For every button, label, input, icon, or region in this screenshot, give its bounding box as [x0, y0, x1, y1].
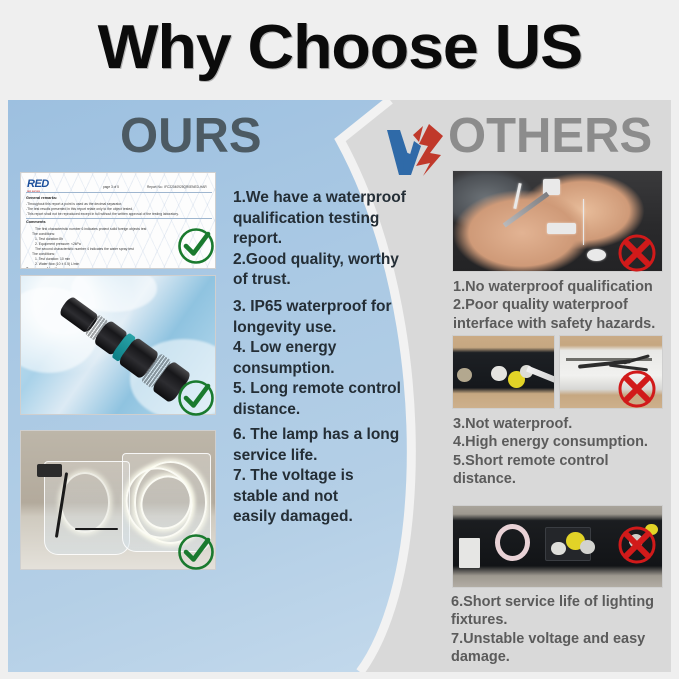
ours-item-3-text: 6. The lamp has a long service life. 7. … — [233, 425, 413, 528]
photo-exposed-wire-nuts — [452, 335, 555, 409]
others-item-3-text: 6.Short service life of lighting fixture… — [451, 593, 679, 666]
document-page-label: page 3 of 5 — [103, 185, 119, 189]
cross-icon — [616, 368, 658, 410]
red-lab-logo: RED test service — [27, 178, 49, 193]
logo-text: RED — [27, 178, 49, 190]
title-bar: Why Choose US — [0, 0, 679, 96]
document-line: -Throughout this report a point is used … — [26, 202, 122, 206]
document-heading-comments: Comments — [26, 220, 46, 224]
document-line: 1. Test duration:8h — [35, 237, 63, 241]
document-line: The conditions: — [32, 232, 55, 236]
ours-item-1-text: 1.We have a waterproof qualification tes… — [233, 188, 408, 291]
document-line: The first characteristic number 6 indica… — [35, 227, 146, 231]
ours-item-2-text: 3. IP65 waterproof for longevity use. 4.… — [233, 297, 413, 421]
document-heading-general: General remarks: — [26, 196, 57, 200]
document-rule — [26, 218, 212, 219]
wire-nut-panel-illustration — [453, 336, 554, 408]
page-title: Why Choose US — [97, 17, 581, 79]
check-icon — [176, 378, 216, 418]
document-report-number: Report No.: IFC22040925QR0ENED-HAR — [147, 185, 207, 189]
cross-icon — [616, 232, 658, 274]
others-item-2-text: 3.Not waterproof. 4.High energy consumpt… — [453, 415, 679, 488]
cross-icon — [616, 524, 658, 566]
check-icon — [176, 226, 216, 266]
comparison-body: OURS OTHERS RED test service page 3 of 5… — [8, 100, 671, 672]
ours-header: OURS — [120, 112, 262, 161]
check-icon — [176, 532, 216, 572]
document-line: -The test results presented in this repo… — [26, 207, 133, 211]
others-header: OTHERS — [448, 112, 652, 161]
document-line: The second characteristic number 4 indic… — [35, 247, 134, 251]
document-line: 1. Test duration: 10 min — [35, 257, 70, 261]
document-line: 2. Water flow (10 ± 0.5) L/min — [35, 262, 79, 266]
document-line: The conditions: — [32, 252, 55, 256]
comparison-infographic: Why Choose US OURS OTHERS RED — [0, 0, 679, 679]
document-rule — [26, 192, 212, 193]
document-heading-summary: Summary of testing — [26, 267, 61, 269]
others-item-1-text: 1.No waterproof qualification 2.Poor qua… — [453, 278, 679, 333]
document-line: 2. Equipment pressure: <2kPa — [35, 242, 81, 246]
document-line: -This report shall not be reproduced exc… — [26, 212, 179, 216]
versus-badge — [383, 122, 449, 178]
